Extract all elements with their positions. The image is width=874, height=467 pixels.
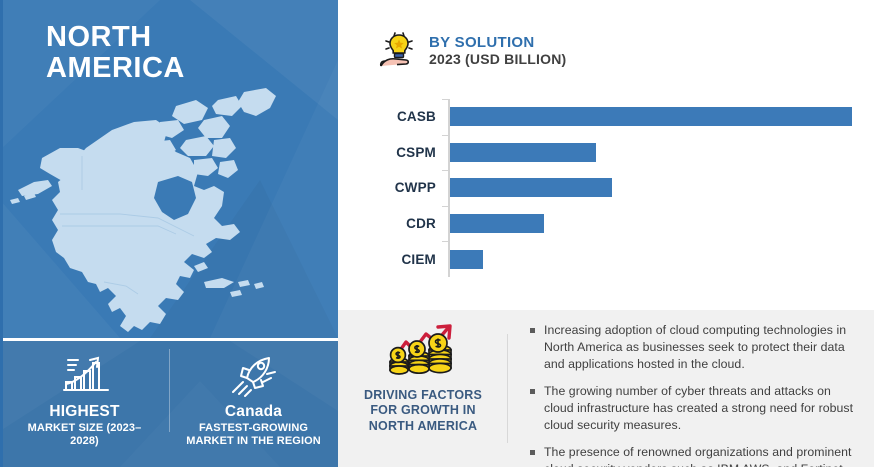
bar-row: CASB: [338, 99, 874, 135]
bar-category-label: CASB: [338, 109, 436, 124]
bar-casb: [450, 107, 852, 126]
bullet-text: The presence of renowned organizations a…: [544, 444, 860, 467]
axis-tick: [442, 241, 448, 242]
stat-subtitle: MARKET SIZE (2023–2028): [15, 422, 155, 448]
bar-category-label: CWPP: [338, 180, 436, 195]
bar-cwpp: [450, 178, 612, 197]
driving-title-line2: FOR GROWTH IN: [364, 403, 482, 418]
axis-tick: [442, 135, 448, 136]
list-item: The presence of renowned organizations a…: [530, 444, 860, 467]
region-panel: NORTH AMERICA: [0, 0, 338, 467]
stat-subtitle: FASTEST-GROWING MARKET IN THE REGION: [184, 422, 324, 448]
bar-chart: CASBCSPMCWPPCDRCIEM: [338, 85, 874, 295]
bar-track: [450, 99, 874, 135]
chart-subheading: 2023 (USD BILLION): [429, 52, 566, 68]
region-stats-section: HIGHEST MARKET SIZE (2023–2028): [0, 341, 338, 467]
bullet-marker-icon: [530, 389, 535, 394]
growth-bar-chart-icon: [56, 350, 114, 400]
stat-highest-market-size: HIGHEST MARKET SIZE (2023–2028): [0, 341, 169, 448]
bullet-text: Increasing adoption of cloud computing t…: [544, 322, 860, 373]
north-america-map-icon: [8, 86, 334, 336]
hand-holding-lightbulb-icon: [378, 30, 420, 72]
rising-coins-growth-icon: [386, 322, 460, 384]
bar-row: CDR: [338, 206, 874, 242]
stat-title: Canada: [225, 403, 282, 421]
bar-track: [450, 170, 874, 206]
bar-category-label: CSPM: [338, 145, 436, 160]
bar-ciem: [450, 250, 483, 269]
list-item: Increasing adoption of cloud computing t…: [530, 322, 860, 373]
map-section: NORTH AMERICA: [0, 0, 338, 338]
chart-header: BY SOLUTION 2023 (USD BILLION): [378, 30, 566, 72]
stat-title: HIGHEST: [49, 403, 119, 421]
list-item: The growing number of cyber threats and …: [530, 383, 860, 434]
driving-factors-header: DRIVING FACTORS FOR GROWTH IN NORTH AMER…: [338, 310, 508, 467]
bar-cdr: [450, 214, 544, 233]
bar-cspm: [450, 143, 596, 162]
bar-track: [450, 206, 874, 242]
driving-factors-title: DRIVING FACTORS FOR GROWTH IN NORTH AMER…: [364, 388, 482, 434]
bar-row: CIEM: [338, 241, 874, 277]
region-title-line2: AMERICA: [46, 53, 185, 84]
driving-factors-list: Increasing adoption of cloud computing t…: [508, 310, 874, 467]
driving-title-line1: DRIVING FACTORS: [364, 388, 482, 403]
bar-rows: CASBCSPMCWPPCDRCIEM: [338, 99, 874, 277]
axis-tick: [442, 206, 448, 207]
left-edge-accent: [0, 0, 3, 467]
bar-track: [450, 135, 874, 171]
bar-row: CSPM: [338, 135, 874, 171]
axis-tick: [442, 170, 448, 171]
chart-heading: BY SOLUTION: [429, 35, 566, 52]
bar-row: CWPP: [338, 170, 874, 206]
bar-track: [450, 241, 874, 277]
bullet-marker-icon: [530, 328, 535, 333]
region-title-line1: NORTH: [46, 22, 185, 53]
bullet-text: The growing number of cyber threats and …: [544, 383, 860, 434]
chart-panel: BY SOLUTION 2023 (USD BILLION) CASBCSPMC…: [338, 0, 874, 310]
bar-category-label: CDR: [338, 216, 436, 231]
stat-fastest-growing-market: Canada FASTEST-GROWING MARKET IN THE REG…: [169, 341, 338, 448]
infographic-root: NORTH AMERICA: [0, 0, 874, 467]
bar-category-label: CIEM: [338, 252, 436, 267]
rocket-icon: [227, 350, 281, 400]
driving-factors-panel: DRIVING FACTORS FOR GROWTH IN NORTH AMER…: [338, 310, 874, 467]
page-title: NORTH AMERICA: [46, 22, 185, 85]
driving-title-line3: NORTH AMERICA: [364, 419, 482, 434]
axis-tick: [442, 99, 448, 100]
bullet-marker-icon: [530, 450, 535, 455]
